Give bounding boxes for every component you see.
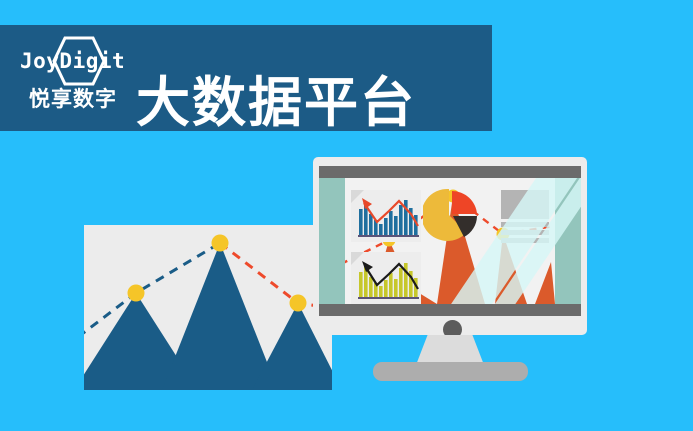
pie-slice-b xyxy=(452,191,477,214)
logo-latin-text: JoyDigit xyxy=(20,48,128,74)
mountain-tall-center xyxy=(162,243,278,390)
pie-chart xyxy=(423,187,479,245)
monitor-bottom-bezel xyxy=(319,304,581,316)
data-marker xyxy=(128,285,145,302)
page-title: 大数据平台 xyxy=(136,71,436,135)
blue-bar-chart-thumbnail xyxy=(351,190,421,242)
left-mountain-svg xyxy=(84,225,332,390)
olive-bar-chart-thumbnail xyxy=(351,252,421,304)
arrow-head-icon xyxy=(362,261,373,272)
screen-side-band-left xyxy=(319,178,345,304)
brand-logo: JoyDigit 悦享数字 xyxy=(16,35,128,123)
data-marker xyxy=(290,295,307,312)
poster-canvas: JoyDigit 悦享数字 大数据平台 xyxy=(0,0,693,431)
mountain-trend-illustration xyxy=(84,225,332,390)
monitor-screen xyxy=(319,178,581,304)
logo-chinese-text: 悦享数字 xyxy=(18,85,128,113)
desktop-monitor xyxy=(313,157,587,385)
blue-bar-chart-svg xyxy=(351,190,421,242)
arrow-head-icon xyxy=(362,198,372,209)
data-marker xyxy=(212,235,229,252)
monitor-stand-base xyxy=(373,362,528,381)
monitor-top-bezel xyxy=(319,166,581,178)
monitor-stand-neck xyxy=(416,335,484,365)
bottom-background-strip xyxy=(0,390,693,431)
header-banner: JoyDigit 悦享数字 大数据平台 xyxy=(0,25,492,131)
olive-bar-chart-svg xyxy=(351,252,421,304)
